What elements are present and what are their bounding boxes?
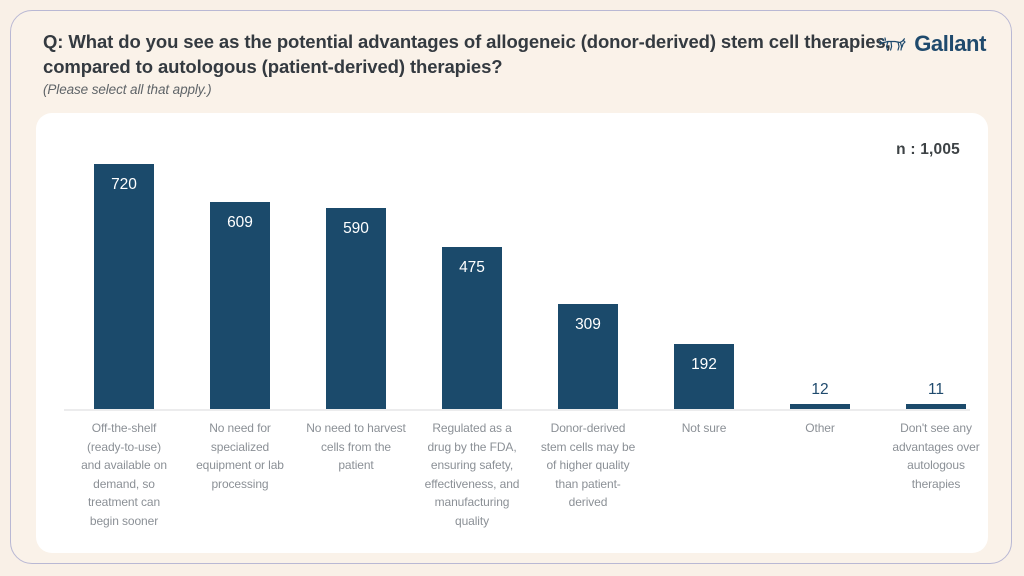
bar-rect[interactable] <box>210 202 270 409</box>
tick-label-6: Not sure <box>644 419 764 438</box>
slide-frame: Q: What do you see as the potential adva… <box>10 10 1012 564</box>
tick-label-line: cells from the <box>296 438 416 457</box>
bar-3[interactable]: 590 <box>298 137 414 409</box>
tick-label-line: No need to harvest <box>296 419 416 438</box>
bar-rect[interactable] <box>94 164 154 409</box>
tick-label-line: effectiveness, and <box>412 475 532 494</box>
tick-label-line: (ready-to-use) <box>64 438 184 457</box>
bar-value-label: 720 <box>111 176 137 194</box>
tick-label-line: and available on <box>64 456 184 475</box>
tick-label-line: quality <box>412 512 532 531</box>
bar-4[interactable]: 475 <box>414 137 530 409</box>
tick-label-line: stem cells may be <box>528 438 648 457</box>
tick-label-line: of higher quality <box>528 456 648 475</box>
bar-rect[interactable] <box>326 208 386 409</box>
tick-label-line: treatment can <box>64 493 184 512</box>
tick-label-3: No need to harvestcells from thepatient <box>296 419 416 475</box>
tick-label-line: autologous <box>876 456 996 475</box>
tick-label-5: Donor-derivedstem cells may beof higher … <box>528 419 648 512</box>
tick-label-line: No need for <box>180 419 300 438</box>
brand-name: Gallant <box>914 31 986 57</box>
tick-label-line: processing <box>180 475 300 494</box>
tick-label-line: manufacturing <box>412 493 532 512</box>
tick-label-line: patient <box>296 456 416 475</box>
tick-label-line: Donor-derived <box>528 419 648 438</box>
bar-chart: 7206095904753091921211 Off-the-shelf(rea… <box>64 137 970 541</box>
tick-label-4: Regulated as adrug by the FDA,ensuring s… <box>412 419 532 530</box>
page-subtitle: (Please select all that apply.) <box>43 82 923 97</box>
bar-7[interactable]: 12 <box>762 137 878 409</box>
tick-label-line: derived <box>528 493 648 512</box>
bar-value-label: 475 <box>459 259 485 277</box>
tick-label-8: Don't see anyadvantages overautologousth… <box>876 419 996 493</box>
bar-value-label: 309 <box>575 316 601 334</box>
bar-2[interactable]: 609 <box>182 137 298 409</box>
bar-rect[interactable] <box>674 344 734 409</box>
bar-value-label: 192 <box>691 356 717 374</box>
header: Q: What do you see as the potential adva… <box>43 29 923 97</box>
brand-logo: Gallant <box>878 31 986 57</box>
bar-value-label: 11 <box>928 381 944 399</box>
bar-value-label: 590 <box>343 220 369 238</box>
tick-label-2: No need forspecializedequipment or labpr… <box>180 419 300 493</box>
tick-label-line: Don't see any <box>876 419 996 438</box>
tick-label-line: equipment or lab <box>180 456 300 475</box>
tick-label-line: specialized <box>180 438 300 457</box>
tick-label-line: than patient- <box>528 475 648 494</box>
bars-area: 7206095904753091921211 <box>64 137 970 409</box>
tick-label-line: advantages over <box>876 438 996 457</box>
bar-1[interactable]: 720 <box>66 137 182 409</box>
tick-label-line: Off-the-shelf <box>64 419 184 438</box>
tick-label-7: Other <box>760 419 880 438</box>
tick-label-line: Other <box>760 419 880 438</box>
bar-value-label: 609 <box>227 214 253 232</box>
tick-label-line: demand, so <box>64 475 184 494</box>
bar-5[interactable]: 309 <box>530 137 646 409</box>
tick-label-line: begin sooner <box>64 512 184 531</box>
bar-value-label: 12 <box>811 381 828 399</box>
tick-label-line: Not sure <box>644 419 764 438</box>
dog-line-art-icon <box>878 34 908 54</box>
tick-label-line: ensuring safety, <box>412 456 532 475</box>
tick-label-line: Regulated as a <box>412 419 532 438</box>
x-axis-line <box>64 409 970 411</box>
bar-8[interactable]: 11 <box>878 137 994 409</box>
page-title: Q: What do you see as the potential adva… <box>43 29 923 79</box>
tick-label-line: therapies <box>876 475 996 494</box>
tick-label-line: drug by the FDA, <box>412 438 532 457</box>
tick-label-1: Off-the-shelf(ready-to-use)and available… <box>64 419 184 530</box>
bar-6[interactable]: 192 <box>646 137 762 409</box>
chart-card: n : 1,005 7206095904753091921211 Off-the… <box>36 113 988 553</box>
